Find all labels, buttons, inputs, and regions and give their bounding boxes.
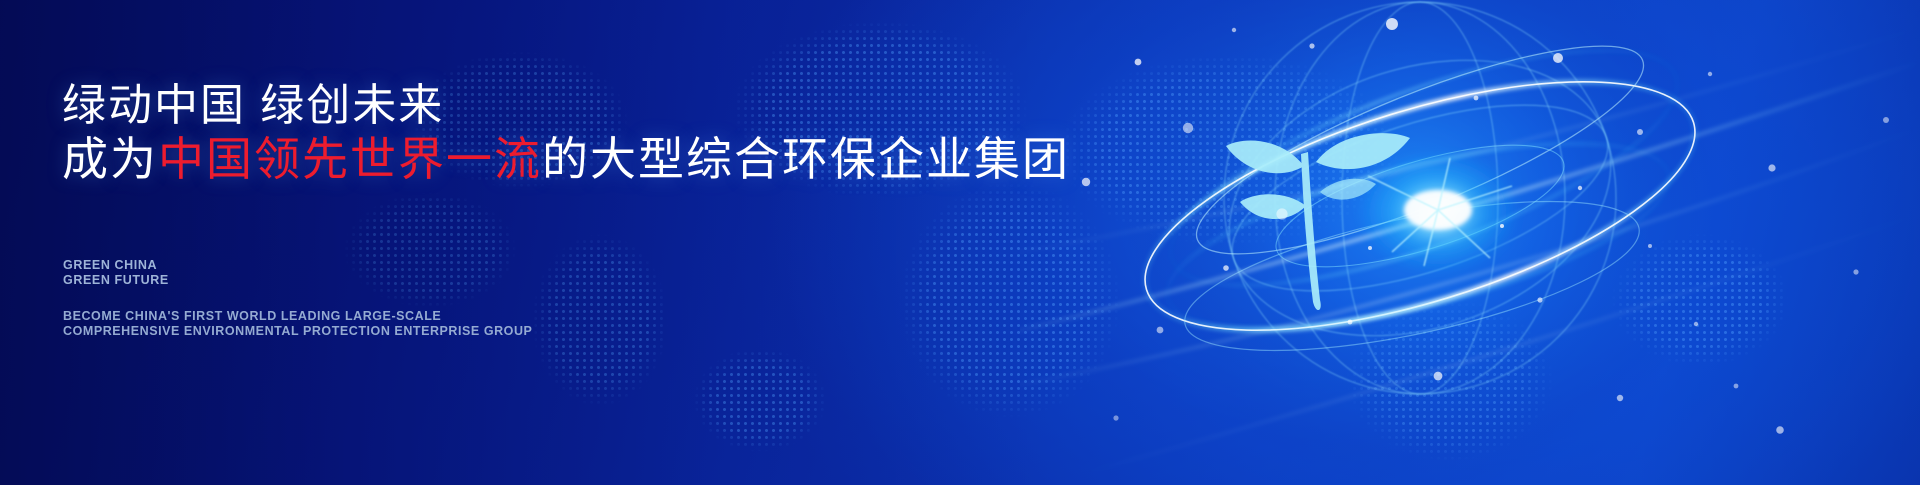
english-slogan: GREEN CHINA GREEN FUTURE: [63, 258, 169, 288]
light-particles: [1082, 18, 1889, 434]
headline-line-2: 成为中国领先世界一流的大型综合环保企业集团: [62, 136, 1070, 182]
headline-suffix: 的大型综合环保企业集团: [542, 133, 1070, 185]
sprout-seedling-icon: [1226, 133, 1410, 310]
english-slogan-line-1: GREEN CHINA: [63, 258, 169, 273]
starburst-flare: [1356, 150, 1520, 274]
orbital-rings: [1118, 3, 1721, 381]
banner-copy: 绿动中国 绿创未来 成为中国领先世界一流的大型综合环保企业集团 GREEN CH…: [62, 0, 1062, 485]
light-streaks: [1020, 28, 1920, 474]
globe-sphere: [1193, 2, 1646, 394]
headline-prefix: 成为: [62, 133, 158, 185]
hero-banner: 绿动中国 绿创未来 成为中国领先世界一流的大型综合环保企业集团 GREEN CH…: [0, 0, 1920, 485]
english-description-line-1: BECOME CHINA'S FIRST WORLD LEADING LARGE…: [63, 309, 532, 324]
headline-line-1: 绿动中国 绿创未来: [62, 84, 444, 128]
english-description-line-2: COMPREHENSIVE ENVIRONMENTAL PROTECTION E…: [63, 324, 532, 339]
headline-accent: 中国领先世界一流: [158, 133, 542, 185]
english-description: BECOME CHINA'S FIRST WORLD LEADING LARGE…: [63, 309, 532, 339]
globe-halo: [1120, 0, 1720, 485]
english-slogan-line-2: GREEN FUTURE: [63, 273, 169, 288]
globe-graphic: [1020, 0, 1920, 485]
